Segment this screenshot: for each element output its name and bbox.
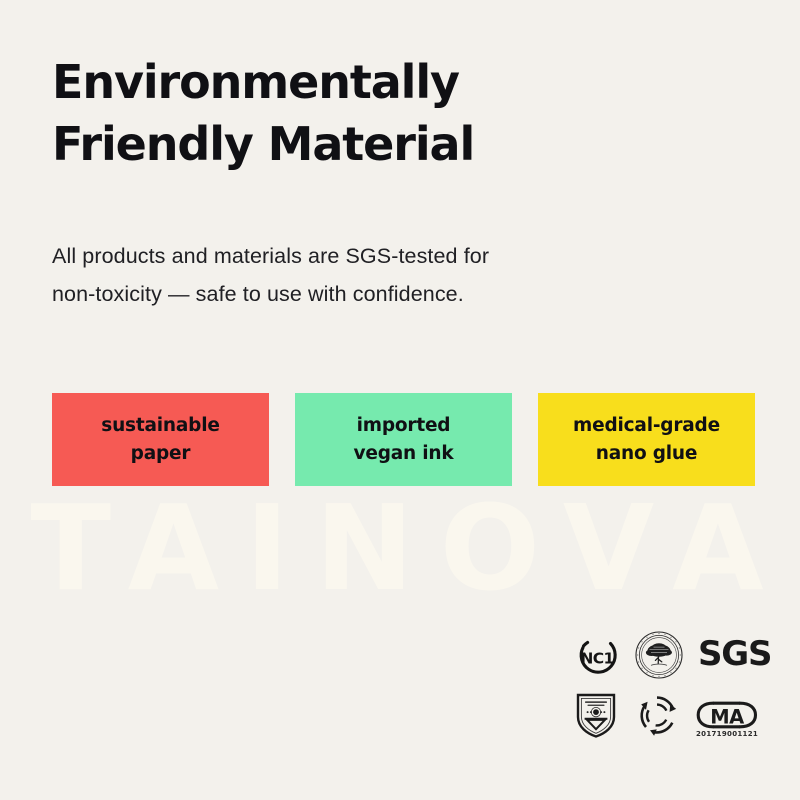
swatch-imported-vegan-ink: imported vegan ink	[295, 393, 512, 486]
swatch-label-line-1: imported	[357, 415, 451, 436]
fsc-tree-seal-logo	[634, 630, 684, 680]
page-subtitle: All products and materials are SGS-teste…	[52, 237, 652, 314]
poster-canvas: Environmentally Friendly Material All pr…	[0, 0, 800, 800]
swatch-label-line-1: sustainable	[101, 415, 219, 436]
swatch-label-line-1: medical-grade	[573, 415, 720, 436]
recycling-arrows-logo	[634, 692, 680, 738]
svg-text:MA: MA	[710, 705, 744, 728]
material-swatch-group: sustainable paper imported vegan ink med…	[52, 393, 756, 486]
nc1-mark-logo: NC1	[574, 634, 620, 680]
cma-certificate-number: 201719001121	[696, 731, 758, 738]
certification-row-top: NC1	[574, 622, 760, 680]
swatch-sustainable-paper: sustainable paper	[52, 393, 269, 486]
swatch-medical-grade-nano-glue: medical-grade nano glue	[538, 393, 755, 486]
page-title-line-2: Friendly Material	[52, 114, 672, 176]
shield-badge-logo	[574, 690, 618, 738]
page-subtitle-line-1: All products and materials are SGS-teste…	[52, 244, 489, 268]
page-subtitle-line-2: non-toxicity — safe to use with confiden…	[52, 275, 652, 313]
sgs-logo-text: SGS	[698, 637, 771, 671]
swatch-label-line-2: paper	[131, 443, 191, 464]
sgs-logo: SGS	[698, 628, 771, 680]
page-title-line-1: Environmentally	[52, 55, 459, 109]
swatch-label-line-2: nano glue	[596, 443, 697, 464]
certification-row-bottom: MA 201719001121	[574, 680, 760, 738]
certification-logo-group: NC1	[574, 622, 760, 738]
svg-text:NC1: NC1	[580, 650, 613, 668]
swatch-label-line-2: vegan ink	[354, 443, 454, 464]
page-title: Environmentally Friendly Material	[52, 52, 672, 175]
cma-logo: MA 201719001121	[696, 700, 758, 738]
